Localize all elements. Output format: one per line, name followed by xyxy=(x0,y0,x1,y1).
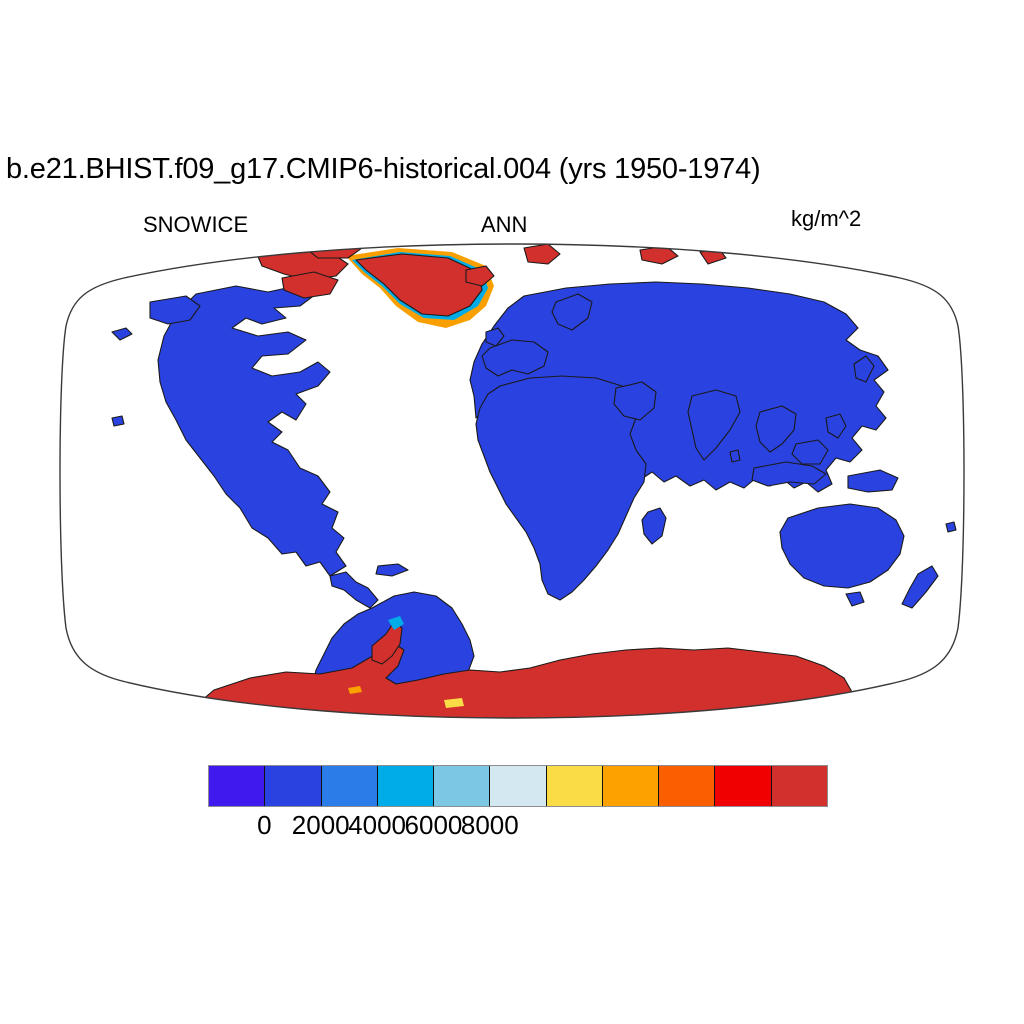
colorbar-tick-label: 0 xyxy=(257,810,271,840)
colorbar-segment-9[interactable] xyxy=(715,766,771,806)
colorbar-segment-3[interactable] xyxy=(378,766,434,806)
colorbar-segment-4[interactable] xyxy=(434,766,490,806)
figure-title: b.e21.BHIST.f09_g17.CMIP6-historical.004… xyxy=(6,152,1020,186)
colorbar-tick-label: 6000 xyxy=(405,810,463,840)
colorbar-segment-10[interactable] xyxy=(772,766,827,806)
colorbar-ticks: 02000400060008000 xyxy=(208,810,828,850)
colorbar-tick-label: 4000 xyxy=(348,810,406,840)
colorbar-tick-label: 8000 xyxy=(461,810,519,840)
colorbar-segment-2[interactable] xyxy=(322,766,378,806)
colorbar-segment-5[interactable] xyxy=(490,766,546,806)
season-label: ANN xyxy=(481,212,527,238)
colorbar-segment-7[interactable] xyxy=(603,766,659,806)
world-map xyxy=(0,236,1024,736)
colorbar-tick-label: 2000 xyxy=(292,810,350,840)
region-sri-lanka xyxy=(730,450,740,462)
figure-canvas: b.e21.BHIST.f09_g17.CMIP6-historical.004… xyxy=(0,0,1024,1024)
map-panel xyxy=(0,236,1024,736)
region-hawaii xyxy=(112,416,124,426)
colorbar-segment-1[interactable] xyxy=(265,766,321,806)
variable-label: SNOWICE xyxy=(143,212,248,238)
colorbar-segment-8[interactable] xyxy=(659,766,715,806)
colorbar-segment-0[interactable] xyxy=(209,766,265,806)
colorbar[interactable] xyxy=(208,765,828,807)
region-fiji xyxy=(946,522,956,532)
units-label: kg/m^2 xyxy=(791,206,861,232)
colorbar-segment-6[interactable] xyxy=(547,766,603,806)
